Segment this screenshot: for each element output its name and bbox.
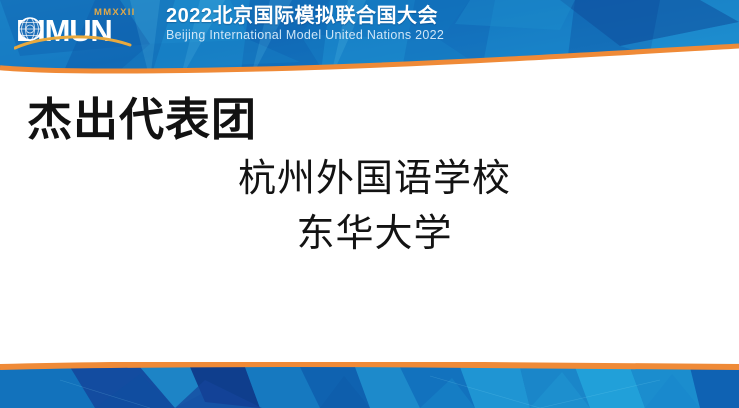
award-recipient-list: 杭州外国语学校 东华大学 <box>0 152 739 262</box>
footer-banner <box>0 362 739 408</box>
conference-title-cn: 2022北京国际模拟联合国大会 <box>166 6 444 26</box>
footer-background-graphic <box>0 362 739 408</box>
footer-accent-line <box>0 364 739 367</box>
bimun-logo-graphic: MMXXII BIMUN <box>14 5 162 51</box>
award-recipient: 杭州外国语学校 <box>0 152 739 207</box>
header-banner: MMXXII BIMUN <box>0 0 739 80</box>
bimun-logo: MMXXII BIMUN <box>14 5 162 51</box>
conference-title-block: 2022北京国际模拟联合国大会 Beijing International Mo… <box>166 6 444 42</box>
slide-body: 杰出代表团 杭州外国语学校 东华大学 <box>0 80 739 363</box>
presentation-slide: MMXXII BIMUN <box>0 0 739 408</box>
conference-title-en: Beijing International Model United Natio… <box>166 29 444 42</box>
award-recipient: 东华大学 <box>0 207 739 262</box>
award-category-heading: 杰出代表团 <box>27 96 257 143</box>
un-globe-emblem <box>19 18 41 40</box>
